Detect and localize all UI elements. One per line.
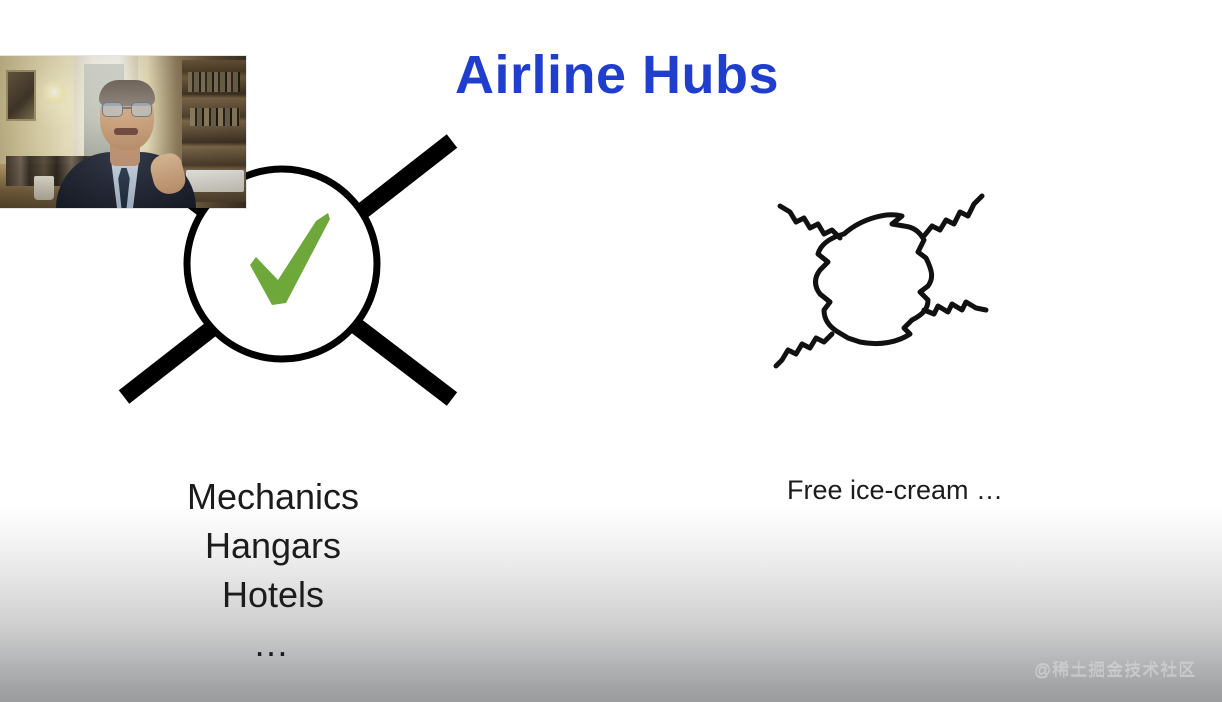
presenter-video-thumbnail[interactable] — [0, 56, 246, 208]
list-item: Mechanics — [108, 472, 438, 521]
leg-lower-left — [776, 334, 832, 366]
webcam-video-overlay — [0, 56, 246, 208]
page-title: Airline Hubs — [455, 48, 779, 102]
presentation-slide: Airline Hubs — [0, 0, 1222, 702]
list-item: Hotels — [108, 570, 438, 619]
loop-caption: Free ice-cream … — [740, 473, 1050, 507]
list-item: Hangars — [108, 521, 438, 570]
leg-upper-left — [780, 206, 840, 238]
hub-services-list: Mechanics Hangars Hotels … — [108, 472, 438, 668]
wiggly-loop-svg — [752, 162, 1022, 382]
wiggly-loop-diagram — [752, 162, 1022, 382]
leg-upper-right — [924, 196, 982, 236]
watermark: @稀土掘金技术社区 — [1034, 655, 1196, 680]
leg-lower-right — [924, 302, 986, 314]
list-ellipsis: … — [108, 619, 438, 668]
